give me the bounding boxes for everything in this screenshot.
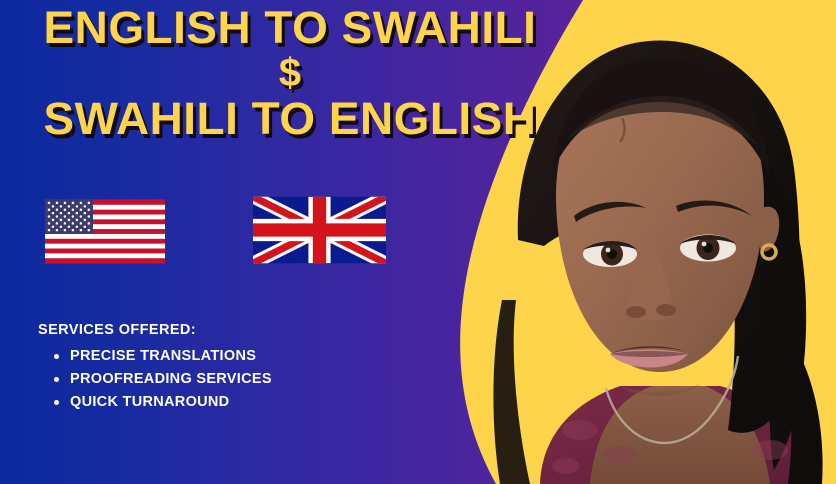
- dollar-sign-icon: $: [0, 53, 580, 93]
- headline-block: ENGLISH TO SWAHILI $ SWAHILI TO ENGLISH: [0, 2, 580, 144]
- headline-line-2: SWAHILI TO ENGLISH: [0, 93, 586, 144]
- list-item: PROOFREADING SERVICES: [54, 368, 272, 391]
- services-list: PRECISE TRANSLATIONS PROOFREADING SERVIC…: [38, 345, 272, 414]
- list-item-label: QUICK TURNAROUND: [70, 394, 229, 410]
- list-item: PRECISE TRANSLATIONS: [54, 345, 272, 368]
- list-item-label: PRECISE TRANSLATIONS: [70, 348, 256, 364]
- services-title: SERVICES OFFERED:: [38, 322, 272, 338]
- flags-row: [0, 193, 470, 273]
- list-item: QUICK TURNAROUND: [54, 391, 272, 414]
- services-block: SERVICES OFFERED: PRECISE TRANSLATIONS P…: [38, 322, 272, 414]
- headline-line-1: ENGLISH TO SWAHILI: [0, 2, 586, 53]
- bullet-icon: [54, 400, 59, 405]
- gig-banner: ENGLISH TO SWAHILI $ SWAHILI TO ENGLISH: [0, 0, 836, 484]
- bullet-icon: [54, 354, 59, 359]
- united-kingdom-flag: [253, 193, 386, 267]
- bullet-icon: [54, 377, 59, 382]
- united-states-flag: [45, 193, 165, 270]
- list-item-label: PROOFREADING SERVICES: [70, 371, 272, 387]
